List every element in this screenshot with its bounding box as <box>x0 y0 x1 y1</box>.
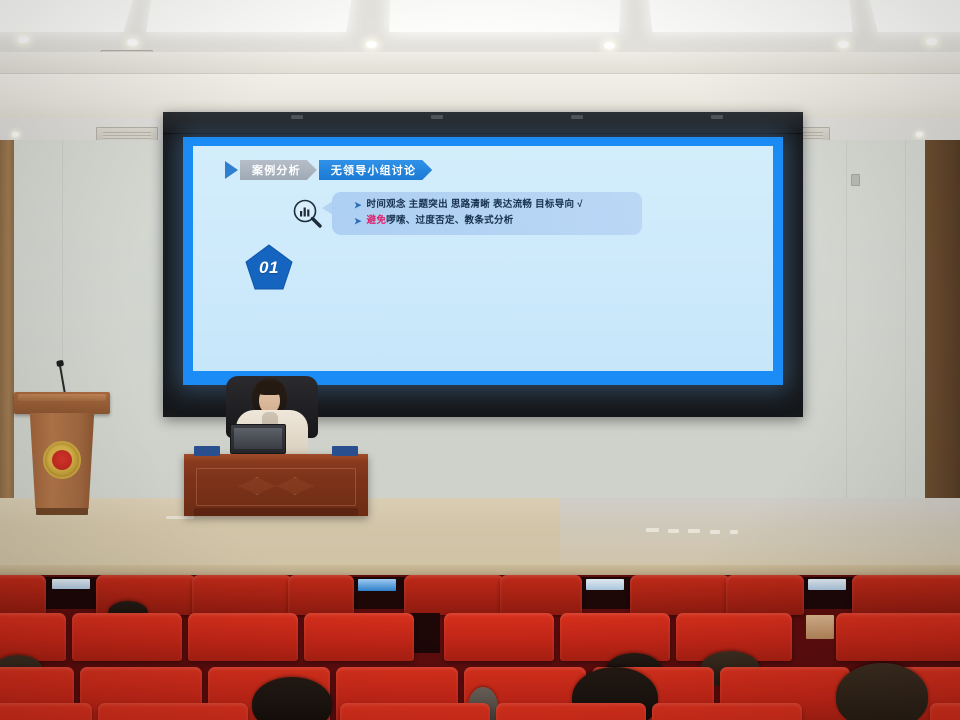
wall-switch[interactable] <box>851 174 860 186</box>
slide-canvas: 案例分析 无领导小组讨论 <box>193 146 773 371</box>
slide-number-badge-text: 01 <box>245 258 293 278</box>
bullet-text-negative: 啰嗦、过度否定、教条式分析 <box>386 213 513 229</box>
floor-marker <box>646 528 659 532</box>
wall-seam <box>846 140 847 530</box>
auditorium-scene: 案例分析 无领导小组讨论 <box>0 0 960 720</box>
ceiling-light-panel <box>866 0 960 32</box>
stage-floor-reflection <box>560 498 960 568</box>
seat[interactable] <box>98 703 248 720</box>
recessed-downlight <box>18 36 29 43</box>
bullet-text-positive: 时间观念 主题突出 思路清晰 表达流畅 目标导向 √ <box>367 197 583 213</box>
seat[interactable] <box>652 703 802 720</box>
slide-breadcrumb: 案例分析 无领导小组讨论 <box>225 160 432 180</box>
desk-diamond-inlay <box>239 477 275 495</box>
speaker-desk <box>184 454 368 516</box>
floor-marker <box>730 530 738 534</box>
desk-diamond-inlay <box>277 477 313 495</box>
seat[interactable] <box>304 613 414 661</box>
seat[interactable] <box>340 703 490 720</box>
seat-monitor <box>358 579 396 591</box>
stage-box-left <box>194 446 220 456</box>
seat[interactable] <box>0 575 46 615</box>
seat[interactable] <box>836 613 960 661</box>
seat[interactable] <box>726 575 804 615</box>
seat[interactable] <box>192 575 292 615</box>
seat[interactable] <box>496 703 646 720</box>
wall-seam <box>905 140 906 530</box>
projected-slide: 案例分析 无领导小组讨论 <box>183 137 783 385</box>
recessed-downlight <box>926 38 937 45</box>
desk-plinth <box>194 508 358 516</box>
breadcrumb-item-leaderless-group-discussion[interactable]: 无领导小组讨论 <box>319 160 432 180</box>
recessed-downlight <box>127 39 138 46</box>
seat[interactable] <box>630 575 730 615</box>
wall-column-right <box>925 140 960 540</box>
desk-front-panel <box>196 468 356 506</box>
lectern-top-surface <box>14 392 110 414</box>
bullet-item: ➤ 避免 啰嗦、过度否定、教条式分析 <box>354 213 634 229</box>
recessed-downlight <box>366 41 377 48</box>
seat[interactable] <box>852 575 960 615</box>
audience-seating <box>0 565 960 720</box>
seat[interactable] <box>444 613 554 661</box>
floor-marker <box>710 530 720 534</box>
institution-emblem <box>43 441 81 479</box>
seat[interactable] <box>560 613 670 661</box>
stage-box-right <box>332 446 358 456</box>
recessed-downlight <box>12 132 19 137</box>
magnifier-chart-icon <box>291 198 325 230</box>
callout-tail <box>322 201 333 215</box>
seat-monitor <box>808 579 846 590</box>
seat[interactable] <box>288 575 354 615</box>
ceiling <box>0 0 960 118</box>
bullet-item: ➤ 时间观念 主题突出 思路清晰 表达流畅 目标导向 √ <box>354 197 634 213</box>
screen-bezel <box>163 112 803 134</box>
breadcrumb-item-case-analysis[interactable]: 案例分析 <box>240 160 317 180</box>
wall-column-left <box>0 140 14 540</box>
ceiling-light-panel <box>0 0 137 32</box>
floor-marker <box>668 529 679 533</box>
wooden-lectern <box>14 392 110 522</box>
seat[interactable] <box>72 613 182 661</box>
ceiling-light-panel <box>647 0 852 32</box>
open-laptop[interactable] <box>230 424 286 454</box>
lectern-base <box>36 508 88 515</box>
slide-number-badge: 01 <box>245 244 293 290</box>
presenter-area <box>186 368 366 528</box>
seat[interactable] <box>404 575 504 615</box>
seat[interactable] <box>0 613 66 661</box>
seat[interactable] <box>0 703 92 720</box>
ceiling-light-panel <box>146 0 354 32</box>
bullet-emphasis-avoid: 避免 <box>367 213 387 229</box>
bullet-arrow-icon: ➤ <box>354 213 362 229</box>
presenter-hair <box>256 381 284 395</box>
lectern-body <box>27 413 97 509</box>
seat[interactable] <box>188 613 298 661</box>
seat-monitor <box>52 579 90 589</box>
floor-marker <box>688 529 700 533</box>
seat[interactable] <box>500 575 582 615</box>
play-triangle-icon <box>225 161 238 179</box>
slide-callout-box: ➤ 时间观念 主题突出 思路清晰 表达流畅 目标导向 √ ➤ 避免 啰嗦、过度否… <box>332 192 642 235</box>
ceiling-light-panel <box>389 0 621 32</box>
seat-monitor <box>586 579 624 590</box>
seat[interactable] <box>930 703 960 720</box>
recessed-downlight <box>838 41 849 48</box>
recessed-downlight <box>916 132 923 137</box>
audience-head <box>836 663 928 720</box>
ceiling-soffit <box>0 52 960 74</box>
bullet-arrow-icon: ➤ <box>354 197 362 213</box>
recessed-downlight <box>604 42 615 49</box>
stage-edge-strip <box>0 565 960 575</box>
